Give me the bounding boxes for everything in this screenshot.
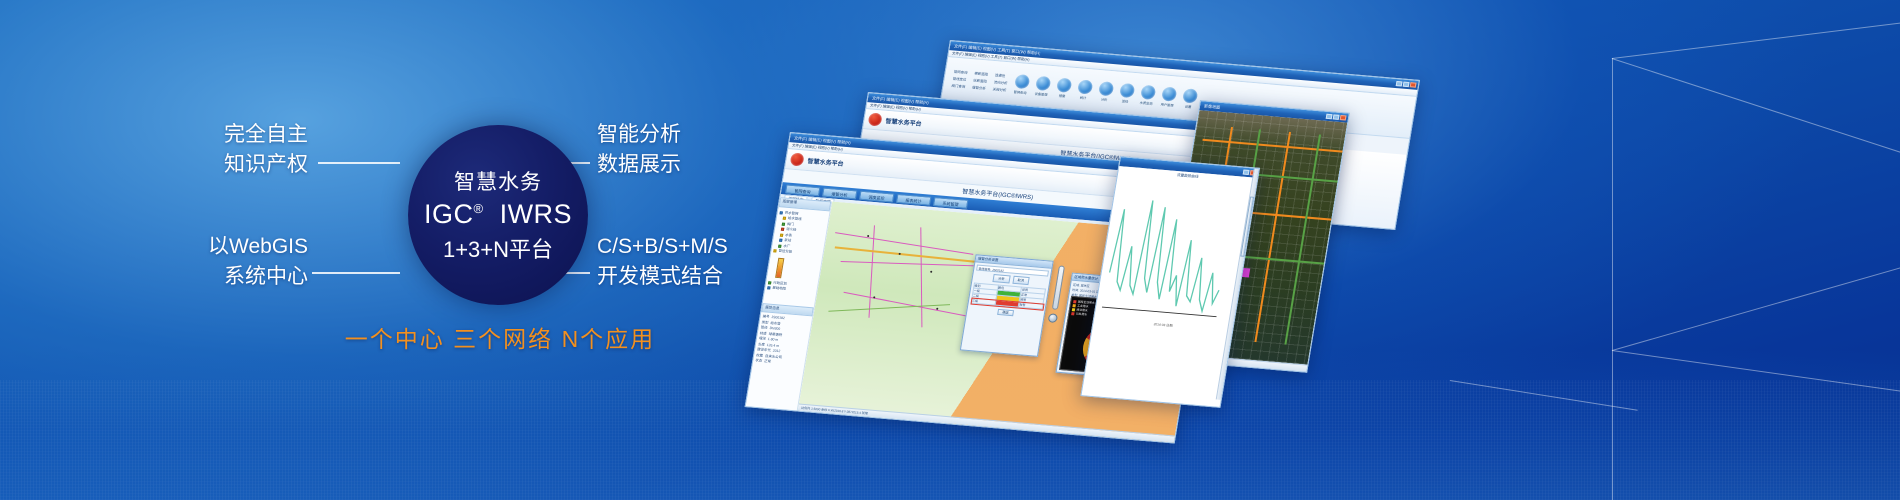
- ribbon-button[interactable]: 水质监测: [1139, 84, 1156, 105]
- ribbon-button-label: 统计: [1080, 94, 1087, 100]
- ribbon-button-label: 管网查询: [1013, 89, 1027, 95]
- ribbon-button[interactable]: 分析: [1097, 81, 1114, 102]
- globe-icon: [1119, 82, 1135, 97]
- attr-name: 状态: [755, 358, 763, 364]
- legend-swatch-icon: [1073, 300, 1076, 303]
- confirm-button[interactable]: 确定: [997, 309, 1014, 316]
- analyze-button[interactable]: 分析: [993, 274, 1011, 283]
- feature-bottom-left: 以WebGIS 系统中心: [138, 232, 308, 292]
- ribbon-button[interactable]: 用户管理: [1160, 86, 1177, 107]
- legend-item: 公共用水: [1071, 311, 1093, 317]
- ribbon-group[interactable]: 管网查询 管线定位 阀门查询: [951, 69, 968, 89]
- globe-icon: [1140, 84, 1156, 99]
- attribute-panel[interactable]: 属性信息 编号JS00182 类型给水管 管径DN300 材质球墨铸铁 埋深1.…: [755, 303, 812, 368]
- layer-swatch-icon: [780, 211, 783, 214]
- globe-icon: [1014, 74, 1030, 89]
- screenshot-stack: 文件(F) 编辑(E) 视图(V) 工具(T) 窗口(W) 帮助(H) 文件(F…: [790, 40, 1610, 460]
- layer-swatch-icon: [778, 244, 781, 247]
- feature-bottom-left-line1: 以WebGIS: [138, 232, 308, 262]
- center-badge: 智慧水务 IGC® IWRS 1+3+N平台: [408, 125, 588, 305]
- badge-line-2: IGC® IWRS: [424, 199, 572, 230]
- feature-bottom-left-line2: 系统中心: [138, 262, 308, 292]
- ribbon-button[interactable]: 统计: [1076, 79, 1093, 100]
- maximize-icon[interactable]: [1333, 114, 1340, 120]
- feature-bottom-right-line2: 开发模式结合: [597, 262, 728, 292]
- globe-icon: [1098, 81, 1114, 96]
- feature-top-right: 智能分析 数据展示: [597, 120, 681, 180]
- badge-line-3: 1+3+N平台: [443, 232, 553, 264]
- feature-top-left-line2: 知识产权: [158, 150, 308, 180]
- feature-top-right-line1: 智能分析: [597, 120, 681, 150]
- ribbon-group[interactable]: 横断面图 纵断面图 爆管分析: [972, 71, 989, 91]
- connector-bottom-left: [312, 272, 400, 274]
- legend-swatch-icon: [1071, 312, 1074, 315]
- popup-burst-analysis[interactable]: 爆管分析设置 管线编号: JS00182 分析 取消 级别 颜色 说明: [960, 254, 1054, 357]
- ribbon-item[interactable]: 横断面图: [974, 71, 988, 77]
- legend-swatch-icon: [1072, 308, 1075, 311]
- badge-igc: IGC: [424, 199, 474, 229]
- layer-swatch-icon: [779, 239, 782, 242]
- ribbon-button[interactable]: 设置: [1181, 88, 1198, 109]
- registered-icon: ®: [473, 201, 483, 216]
- layer-swatch-icon: [780, 233, 783, 236]
- window-satellite-controls[interactable]: [1326, 114, 1347, 121]
- ribbon-button-label: 报警: [1059, 92, 1066, 98]
- ribbon-group[interactable]: 连通性 流向分析 关阀分析: [992, 72, 1009, 92]
- layer-swatch-icon: [782, 222, 785, 225]
- minimize-icon[interactable]: [1396, 81, 1403, 87]
- ribbon-button-label: 巡检: [1122, 98, 1129, 104]
- ribbon-item[interactable]: 关阀分析: [992, 86, 1006, 92]
- cancel-button[interactable]: 取消: [1012, 276, 1030, 285]
- minimize-icon[interactable]: [1243, 170, 1250, 176]
- globe-icon: [1161, 86, 1177, 101]
- severity-table: 级别 颜色 说明 一级 正常 二级: [971, 283, 1046, 310]
- attr-value: 正常: [764, 359, 772, 365]
- cell-level: 三级: [971, 298, 995, 305]
- layer-label: 管径分级: [778, 249, 792, 256]
- layer-swatch-icon: [768, 281, 771, 284]
- company-logo-icon: [868, 112, 883, 126]
- layer-swatch-icon: [781, 228, 784, 231]
- ribbon-button-label: 分析: [1101, 96, 1108, 102]
- company-logo-icon: [790, 152, 805, 166]
- globe-icon: [1035, 75, 1051, 90]
- feature-top-right-line2: 数据展示: [597, 150, 681, 180]
- window-middle-brand: 智慧水务平台: [885, 116, 923, 128]
- layer-swatch-icon: [783, 217, 786, 220]
- concept-diagram: 完全自主 知识产权 以WebGIS 系统中心 智能分析 数据展示 C/S+B/S…: [0, 0, 830, 500]
- connector-top-left: [318, 162, 400, 164]
- ribbon-item[interactable]: 阀门查询: [951, 83, 965, 89]
- globe-icon: [1077, 79, 1093, 94]
- legend-swatch-icon: [1072, 304, 1075, 307]
- window-front-brand: 智慧水务平台: [807, 156, 845, 168]
- legend-label: 公共用水: [1076, 311, 1088, 316]
- layer-label: 基础地图: [772, 286, 786, 293]
- close-icon[interactable]: [1410, 82, 1417, 88]
- ribbon-button[interactable]: 巡检: [1118, 82, 1135, 103]
- tagline: 一个中心 三个网络 N个应用: [270, 320, 730, 354]
- ribbon-button[interactable]: 管网查询: [1013, 74, 1030, 95]
- popup-burst-body[interactable]: 管线编号: JS00182 分析 取消 级别 颜色 说明: [967, 262, 1052, 320]
- ribbon-item[interactable]: 管线定位: [952, 76, 966, 82]
- ribbon-button-label: 设备管理: [1034, 90, 1048, 96]
- badge-line-1: 智慧水务: [454, 166, 542, 196]
- ribbon-button[interactable]: 报警: [1055, 77, 1072, 98]
- maximize-icon[interactable]: [1403, 82, 1410, 88]
- ribbon-item[interactable]: 管网查询: [954, 69, 968, 75]
- window-back-controls[interactable]: [1396, 81, 1417, 88]
- cell-color-swatch: [995, 300, 1019, 307]
- ribbon-button-label: 水质监测: [1139, 99, 1153, 105]
- flow-trend-linechart: [1096, 180, 1241, 340]
- ribbon-item[interactable]: 流向分析: [994, 79, 1008, 85]
- layer-swatch-icon: [773, 250, 776, 253]
- ribbon-button[interactable]: 设备管理: [1034, 75, 1051, 96]
- badge-iwrs: IWRS: [500, 199, 573, 229]
- cell-note: 报警: [1018, 302, 1043, 309]
- globe-icon: [1056, 77, 1072, 92]
- ribbon-item[interactable]: 爆管分析: [972, 85, 986, 91]
- feature-top-left-line1: 完全自主: [158, 120, 308, 150]
- pie-legend: 居民生活用水 工业用水 商业用水 公共用水: [1071, 299, 1095, 317]
- minimize-icon[interactable]: [1326, 114, 1333, 120]
- close-icon[interactable]: [1340, 115, 1347, 121]
- globe-icon: [1182, 88, 1198, 103]
- layer-swatch-icon: [767, 287, 770, 290]
- ribbon-item[interactable]: 连通性: [995, 72, 1009, 78]
- feature-bottom-right: C/S+B/S+M/S 开发模式结合: [597, 232, 728, 292]
- feature-bottom-right-line1: C/S+B/S+M/S: [597, 232, 728, 262]
- ribbon-button-label: 用户管理: [1160, 101, 1174, 107]
- feature-top-left: 完全自主 知识产权: [158, 120, 308, 180]
- ribbon-item[interactable]: 纵断面图: [973, 78, 987, 84]
- legend-gradient-icon: [775, 257, 784, 278]
- ribbon-button-label: 设置: [1185, 103, 1192, 109]
